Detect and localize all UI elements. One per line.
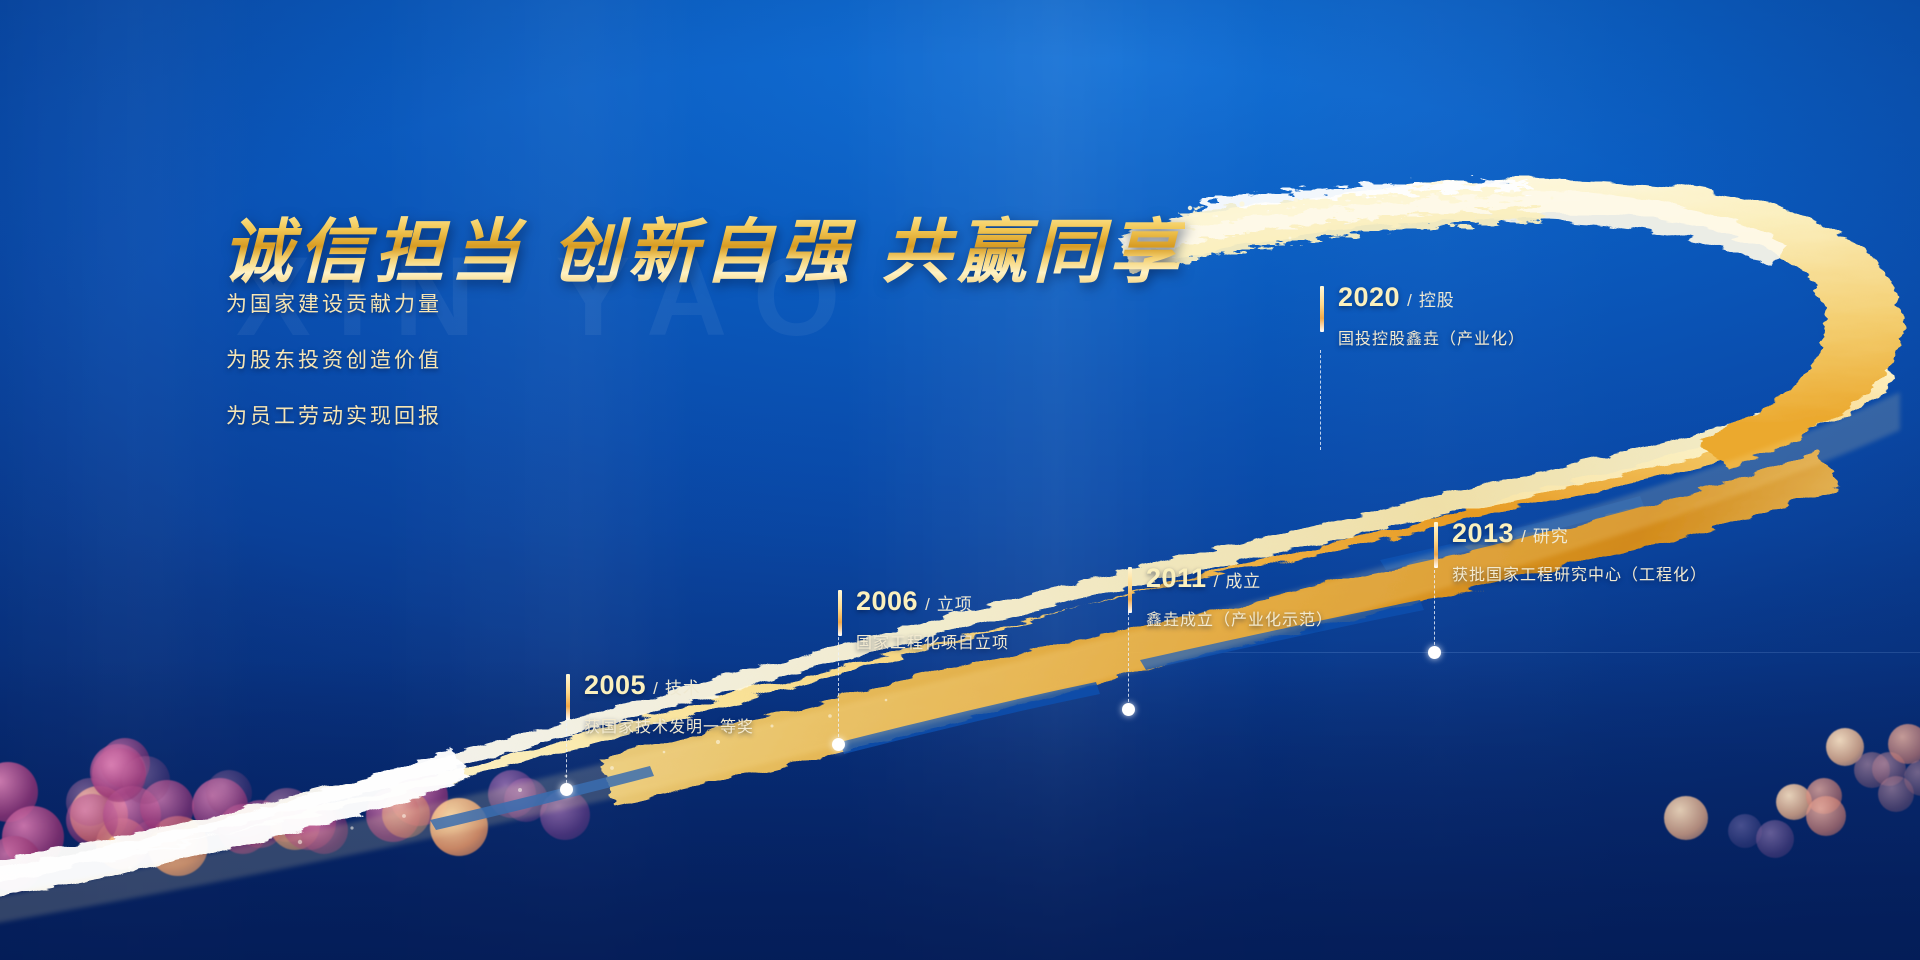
connector-dot-2011: [1122, 703, 1135, 716]
timeline-year: 2005: [584, 672, 646, 699]
timeline-accent-bar: [566, 674, 570, 720]
timeline-item-2011[interactable]: 2011 / 成立 鑫垚成立（产业化示范）: [1128, 565, 1333, 630]
connector-line-2020: [1320, 350, 1321, 450]
slogan-item: 为国家建设贡献力量: [226, 288, 442, 318]
timeline-year: 2011: [1146, 565, 1207, 592]
background-horizon-line: [1020, 652, 1920, 653]
timeline-year: 2013: [1452, 520, 1514, 547]
timeline-year: 2006: [856, 588, 918, 615]
timeline-item-2013[interactable]: 2013 / 研究 获批国家工程研究中心（工程化）: [1434, 520, 1707, 585]
timeline-description: 国投控股鑫垚（产业化）: [1338, 325, 1525, 349]
connector-dot-2006: [832, 738, 845, 751]
timeline-description: 鑫垚成立（产业化示范）: [1146, 606, 1333, 630]
timeline-item-2020[interactable]: 2020 / 控股 国投控股鑫垚（产业化）: [1320, 284, 1525, 349]
timeline-item-2006[interactable]: 2006 / 立项 国家工程化项目立项: [838, 588, 1009, 653]
slogan-list: 为国家建设贡献力量 为股东投资创造价值 为员工劳动实现回报: [226, 288, 442, 456]
timeline-category: 立项: [937, 596, 973, 613]
timeline-category: 成立: [1225, 573, 1261, 590]
timeline-separator: /: [1407, 292, 1412, 309]
timeline-separator: /: [1521, 528, 1526, 545]
timeline-year: 2020: [1338, 284, 1400, 311]
timeline-accent-bar: [1434, 522, 1438, 568]
timeline-category: 控股: [1419, 292, 1455, 309]
timeline-heading: 2006 / 立项: [856, 588, 1009, 615]
timeline-accent-bar: [1128, 567, 1132, 613]
timeline-description: 获批国家工程研究中心（工程化）: [1452, 561, 1707, 585]
timeline-category: 技术: [665, 680, 701, 697]
timeline-heading: 2005 / 技术: [584, 672, 754, 699]
timeline-item-2005[interactable]: 2005 / 技术 获国家技术发明一等奖: [566, 672, 754, 737]
slogan-item: 为员工劳动实现回报: [226, 400, 442, 430]
timeline-separator: /: [925, 596, 930, 613]
timeline-accent-bar: [838, 590, 842, 636]
timeline-separator: /: [653, 680, 658, 697]
timeline-description: 获国家技术发明一等奖: [584, 713, 754, 737]
timeline-heading: 2020 / 控股: [1338, 284, 1525, 311]
banner-canvas: XIN YAO: [0, 0, 1920, 960]
timeline-heading: 2011 / 成立: [1146, 565, 1333, 592]
timeline-separator: /: [1214, 573, 1219, 590]
timeline-accent-bar: [1320, 286, 1324, 332]
timeline-category: 研究: [1533, 528, 1569, 545]
timeline-heading: 2013 / 研究: [1452, 520, 1707, 547]
page-title: 诚信担当 创新自强 共赢同享: [222, 196, 1185, 297]
connector-dot-2013: [1428, 646, 1441, 659]
connector-dot-2005: [560, 783, 573, 796]
timeline-description: 国家工程化项目立项: [856, 629, 1009, 653]
slogan-item: 为股东投资创造价值: [226, 344, 442, 374]
